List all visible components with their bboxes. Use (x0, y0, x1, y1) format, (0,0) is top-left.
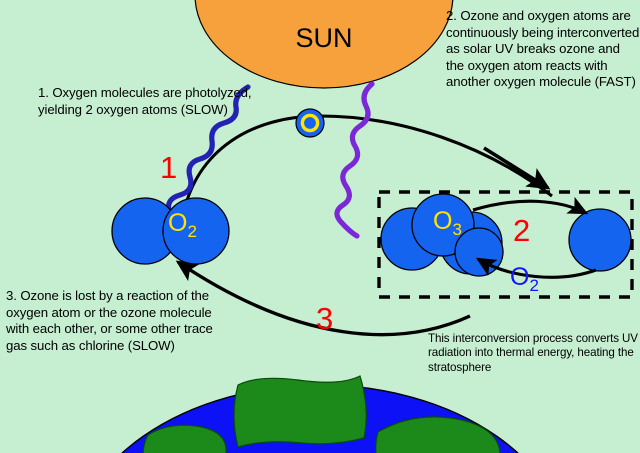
o2-left-atom-b (163, 198, 229, 264)
note-step-2: 2. Ozone and oxygen atoms are continuous… (446, 8, 640, 91)
note-step-1: 1. Oxygen molecules are photolyzed, yiel… (38, 85, 253, 118)
cycle-arc-upper (183, 116, 552, 216)
step-number-3: 3 (316, 303, 333, 334)
sun-label: SUN (269, 23, 379, 54)
note-interconversion-caption: This interconversion process converts UV… (428, 332, 638, 375)
ozone-cycle-diagram: 1. Oxygen molecules are photolyzed, yiel… (0, 0, 640, 453)
note-step-3: 3. Ozone is lost by a reaction of the ox… (6, 288, 231, 354)
earth-landmass-top (234, 376, 366, 447)
earth-graphic (70, 376, 570, 453)
o2-right-atom-b (569, 209, 631, 271)
uv-ray-right (337, 84, 372, 236)
step-number-1: 1 (160, 152, 177, 183)
arrow-o3-to-o2 (473, 201, 586, 213)
arrow-into-ozone-box (484, 148, 548, 188)
oxygen-atom (296, 109, 324, 137)
step-number-2: 2 (513, 215, 530, 246)
